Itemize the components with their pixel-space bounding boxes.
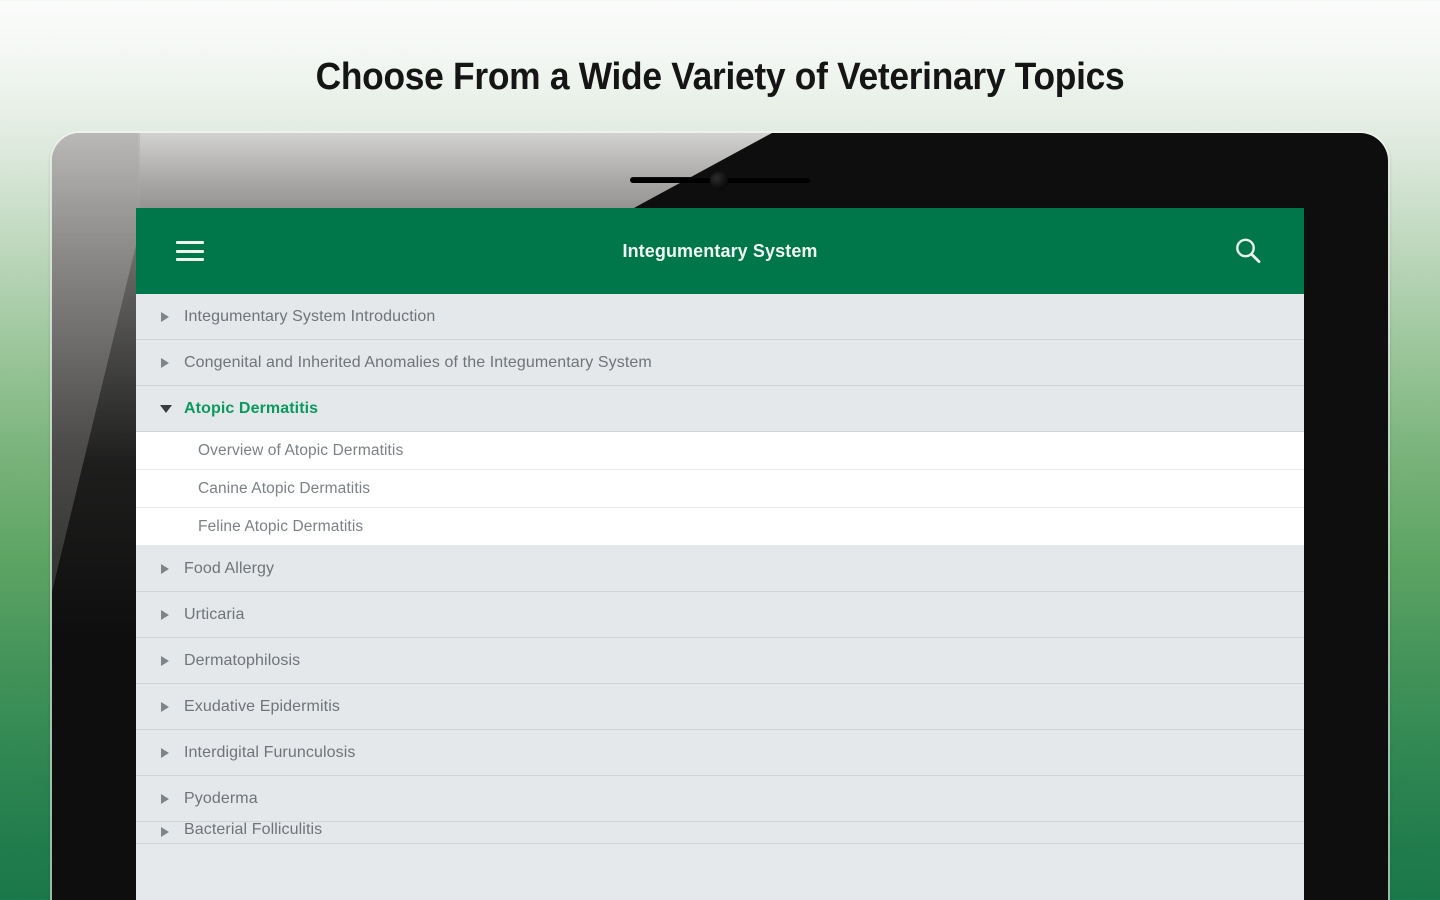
topic-item[interactable]: Dermatophilosis: [136, 638, 1304, 684]
topic-item-label: Bacterial Folliculitis: [184, 822, 322, 839]
app-bar: Integumentary System: [136, 208, 1304, 294]
bezel-left-highlight: [52, 133, 138, 873]
triangle-right-icon[interactable]: [160, 747, 172, 759]
topic-sub-item[interactable]: Canine Atopic Dermatitis: [136, 470, 1304, 508]
front-camera-icon: [710, 172, 728, 190]
topic-item[interactable]: Congenital and Inherited Anomalies of th…: [136, 340, 1304, 386]
topic-item[interactable]: Food Allergy: [136, 546, 1304, 592]
topic-item[interactable]: Bacterial Folliculitis: [136, 822, 1304, 844]
triangle-right-icon[interactable]: [160, 826, 172, 838]
topic-item-label: Canine Atopic Dermatitis: [198, 480, 370, 498]
topic-item[interactable]: Urticaria: [136, 592, 1304, 638]
topic-item-label: Food Allergy: [184, 560, 274, 578]
topic-item-label: Pyoderma: [184, 790, 258, 808]
topic-item[interactable]: Interdigital Furunculosis: [136, 730, 1304, 776]
triangle-right-icon[interactable]: [160, 357, 172, 369]
topic-sub-item[interactable]: Overview of Atopic Dermatitis: [136, 432, 1304, 470]
topic-item-label: Congenital and Inherited Anomalies of th…: [184, 354, 652, 372]
triangle-right-icon[interactable]: [160, 609, 172, 621]
tablet-device-frame: Integumentary System Integumentary Syste…: [52, 133, 1388, 900]
app-bar-title: Integumentary System: [136, 241, 1304, 262]
topic-item-label: Interdigital Furunculosis: [184, 744, 355, 762]
triangle-down-icon[interactable]: [160, 403, 172, 415]
topic-item-label: Exudative Epidermitis: [184, 698, 340, 716]
topic-item[interactable]: Integumentary System Introduction: [136, 294, 1304, 340]
bezel-highlight: [52, 133, 772, 219]
search-icon[interactable]: [1232, 235, 1264, 267]
bezel-left-gradient: [52, 133, 140, 900]
triangle-right-icon[interactable]: [160, 311, 172, 323]
topic-item-label: Overview of Atopic Dermatitis: [198, 442, 403, 460]
triangle-right-icon[interactable]: [160, 655, 172, 667]
triangle-right-icon[interactable]: [160, 701, 172, 713]
topic-list[interactable]: Integumentary System IntroductionCongeni…: [136, 294, 1304, 900]
topic-item-label: Feline Atopic Dermatitis: [198, 518, 363, 536]
topic-item-label: Urticaria: [184, 606, 244, 624]
topic-item[interactable]: Pyoderma: [136, 776, 1304, 822]
topic-item-label: Integumentary System Introduction: [184, 308, 435, 326]
page-title: Choose From a Wide Variety of Veterinary…: [50, 56, 1389, 99]
triangle-right-icon[interactable]: [160, 793, 172, 805]
topic-item[interactable]: Atopic Dermatitis: [136, 386, 1304, 432]
topic-sub-item[interactable]: Feline Atopic Dermatitis: [136, 508, 1304, 546]
topic-item-label: Dermatophilosis: [184, 652, 300, 670]
hamburger-menu-icon[interactable]: [176, 241, 204, 261]
topic-item[interactable]: Exudative Epidermitis: [136, 684, 1304, 730]
topic-item-label: Atopic Dermatitis: [184, 400, 318, 418]
tablet-screen: Integumentary System Integumentary Syste…: [136, 208, 1304, 900]
triangle-right-icon[interactable]: [160, 563, 172, 575]
